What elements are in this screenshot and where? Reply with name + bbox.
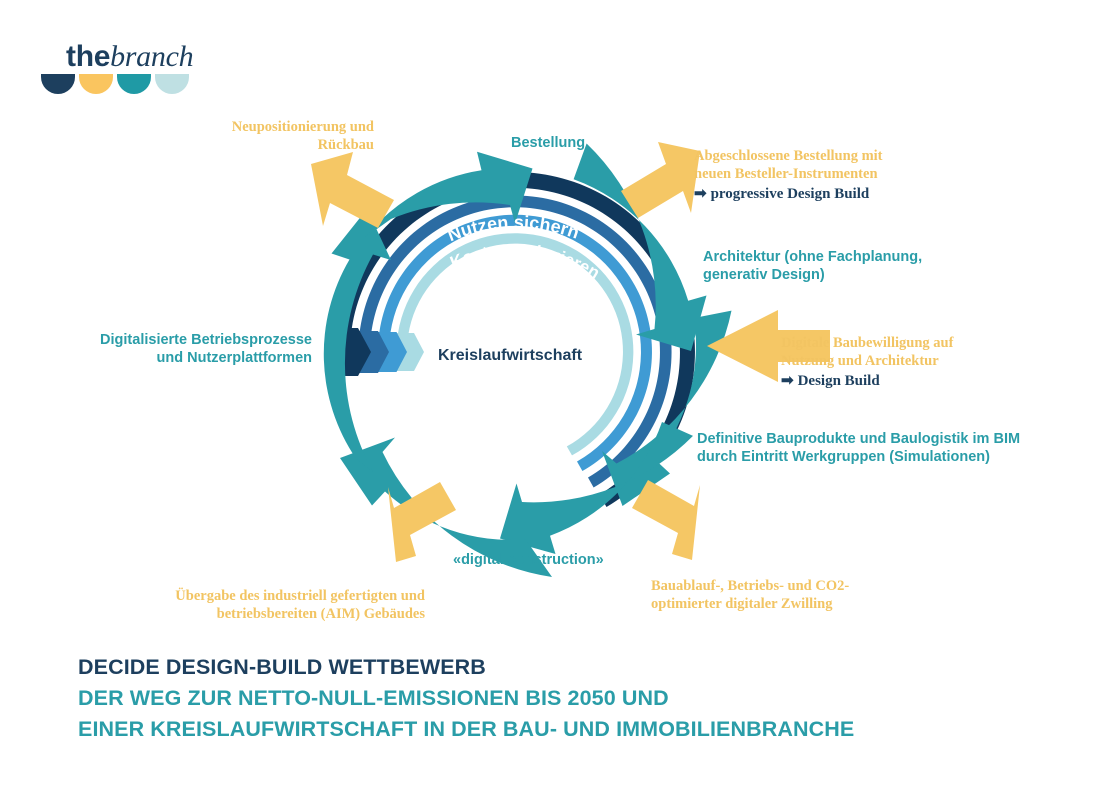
annotation-right-mid-text: Digitale Baubewilligung auf Nutzung und … xyxy=(781,335,953,369)
annotation-right-upper: Architektur (ohne Fachplanung, generativ… xyxy=(703,248,943,284)
annotation-bottom-right: Bauablauf-, Betriebs- und CO2- optimiert… xyxy=(651,577,901,613)
callout-arrow-top-left xyxy=(311,152,394,228)
footer-title-block: DECIDE DESIGN-BUILD WETTBEWERB DER WEG Z… xyxy=(78,652,854,746)
annotation-top-right-sub: progressive Design Build xyxy=(711,186,870,202)
right-arrow-icon-2: ➡ xyxy=(781,373,798,389)
poster-canvas: thebranch xyxy=(0,0,1109,790)
annotation-right-mid-sub: Design Build xyxy=(798,373,880,389)
annotation-right-mid-sub-wrap: ➡Design Build xyxy=(781,372,1011,391)
footer-line-2: DER WEG ZUR NETTO-NULL-EMISSIONEN BIS 20… xyxy=(78,683,854,714)
callout-arrow-bottom-right xyxy=(632,480,700,560)
annotation-top-right: Abgeschlossene Bestellung mit neuen Best… xyxy=(694,129,944,222)
annotation-digital-construction: «digital construction» xyxy=(453,551,604,569)
label-development: Development xyxy=(967,489,1083,526)
annotation-bestellung: Bestellung xyxy=(511,134,585,152)
annotation-right-mid: Digitale Baubewilligung auf Nutzung und … xyxy=(781,316,1011,409)
label-disassembly: Disassembly xyxy=(890,519,983,579)
center-label: Kreislaufwirtschaft xyxy=(438,347,583,364)
footer-line-1: DECIDE DESIGN-BUILD WETTBEWERB xyxy=(78,652,854,683)
annotation-right-lower: Definitive Bauprodukte und Baulogistik i… xyxy=(697,430,1037,466)
annotation-top-right-text: Abgeschlossene Bestellung mit neuen Best… xyxy=(694,148,883,182)
right-arrow-icon: ➡ xyxy=(694,186,711,202)
annotation-top-left: Neupositionierung und Rückbau xyxy=(196,118,374,154)
footer-line-3: EINER KREISLAUFWIRTSCHAFT IN DER BAU- UN… xyxy=(78,714,854,745)
annotation-top-right-sub-wrap: ➡progressive Design Build xyxy=(694,185,944,204)
annotation-left: Digitalisierte Betriebsprozesse und Nutz… xyxy=(57,331,312,367)
annotation-bottom-left: Übergabe des industriell gefertigten und… xyxy=(140,587,425,623)
callout-arrow-top-right xyxy=(621,142,700,218)
